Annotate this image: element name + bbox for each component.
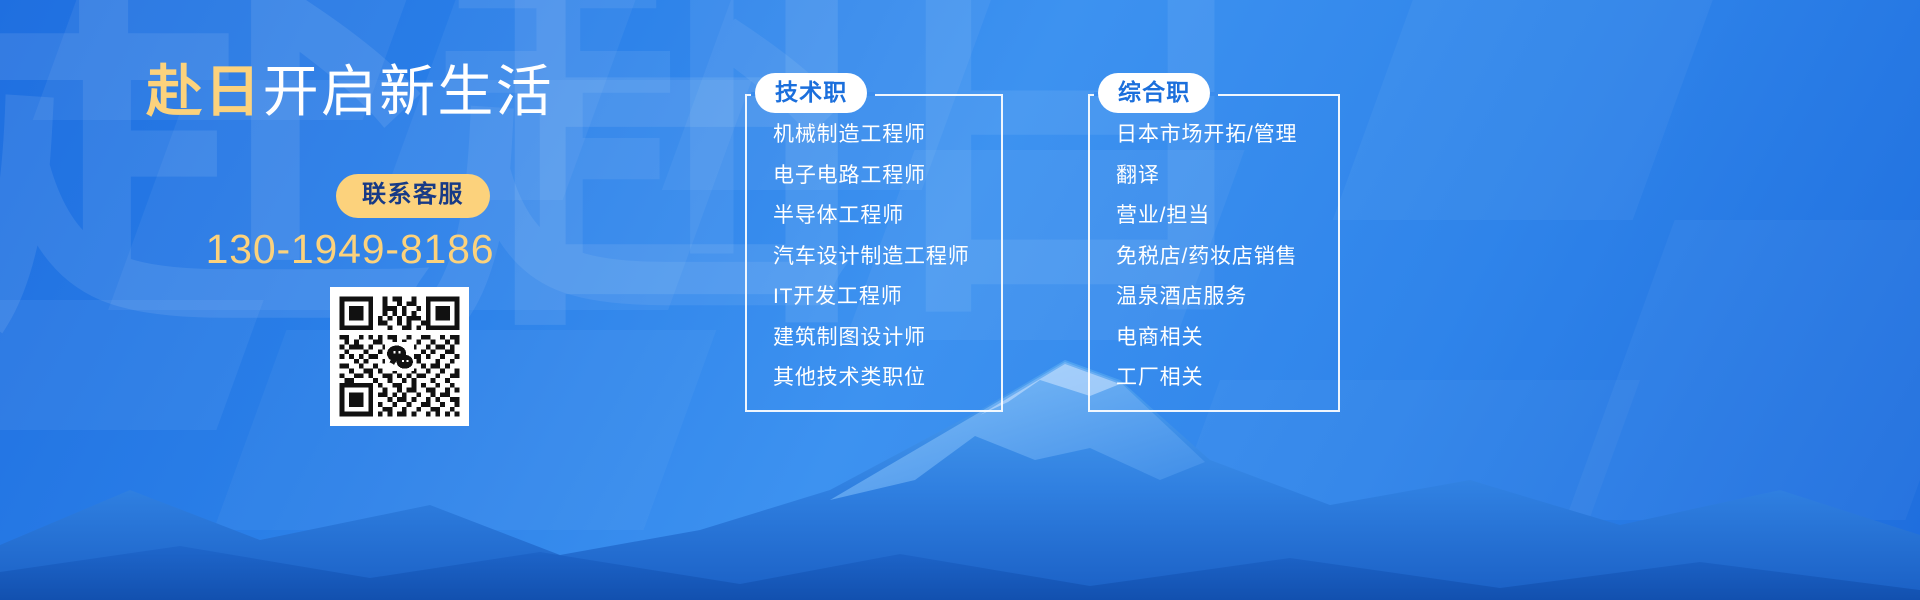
page-title-accent: 赴日 (146, 60, 262, 123)
contact-support-button[interactable]: 联系客服 (336, 174, 490, 218)
job-list-item[interactable]: 机械制造工程师 (773, 124, 970, 145)
qr-code-icon (330, 287, 469, 426)
job-list-item[interactable]: 免税店/药妆店销售 (1116, 246, 1297, 267)
job-list-item[interactable]: 电商相关 (1116, 327, 1297, 348)
job-list-item[interactable]: 营业/担当 (1116, 205, 1297, 226)
phone-number[interactable]: 130-1949-8186 (0, 226, 700, 273)
job-category-panel-tech: 技术职 机械制造工程师 电子电路工程师 半导体工程师 汽车设计制造工程师 IT开… (745, 94, 1003, 412)
job-list-item[interactable]: 汽车设计制造工程师 (773, 246, 970, 267)
job-list-item[interactable]: 翻译 (1116, 165, 1297, 186)
job-list-item[interactable]: 半导体工程师 (773, 205, 970, 226)
wechat-qr-code[interactable] (330, 287, 469, 426)
job-list-item[interactable]: IT开发工程师 (773, 286, 970, 307)
page-title: 赴日开启新生活 (0, 47, 700, 128)
job-category-panel-general: 综合职 日本市场开拓/管理 翻译 营业/担当 免税店/药妆店销售 温泉酒店服务 … (1088, 94, 1340, 412)
panel-badge-general: 综合职 (1098, 73, 1210, 113)
page-title-plain: 开启新生活 (263, 60, 554, 123)
job-list-item[interactable]: 温泉酒店服务 (1116, 286, 1297, 307)
job-list-general: 日本市场开拓/管理 翻译 营业/担当 免税店/药妆店销售 温泉酒店服务 电商相关… (1116, 124, 1297, 408)
job-list-item[interactable]: 电子电路工程师 (773, 165, 970, 186)
job-list-item[interactable]: 工厂相关 (1116, 367, 1297, 388)
decorative-shard (1333, 0, 1728, 220)
promo-banner: 赴日 赴日 (0, 0, 1920, 600)
panel-badge-tech: 技术职 (755, 73, 867, 113)
left-info-column: 赴日开启新生活 联系客服 130-1949-8186 (0, 0, 700, 600)
job-list-tech: 机械制造工程师 电子电路工程师 半导体工程师 汽车设计制造工程师 IT开发工程师… (773, 124, 970, 408)
job-list-item[interactable]: 其他技术类职位 (773, 367, 970, 388)
job-list-item[interactable]: 建筑制图设计师 (773, 327, 970, 348)
job-list-item[interactable]: 日本市场开拓/管理 (1116, 124, 1297, 145)
